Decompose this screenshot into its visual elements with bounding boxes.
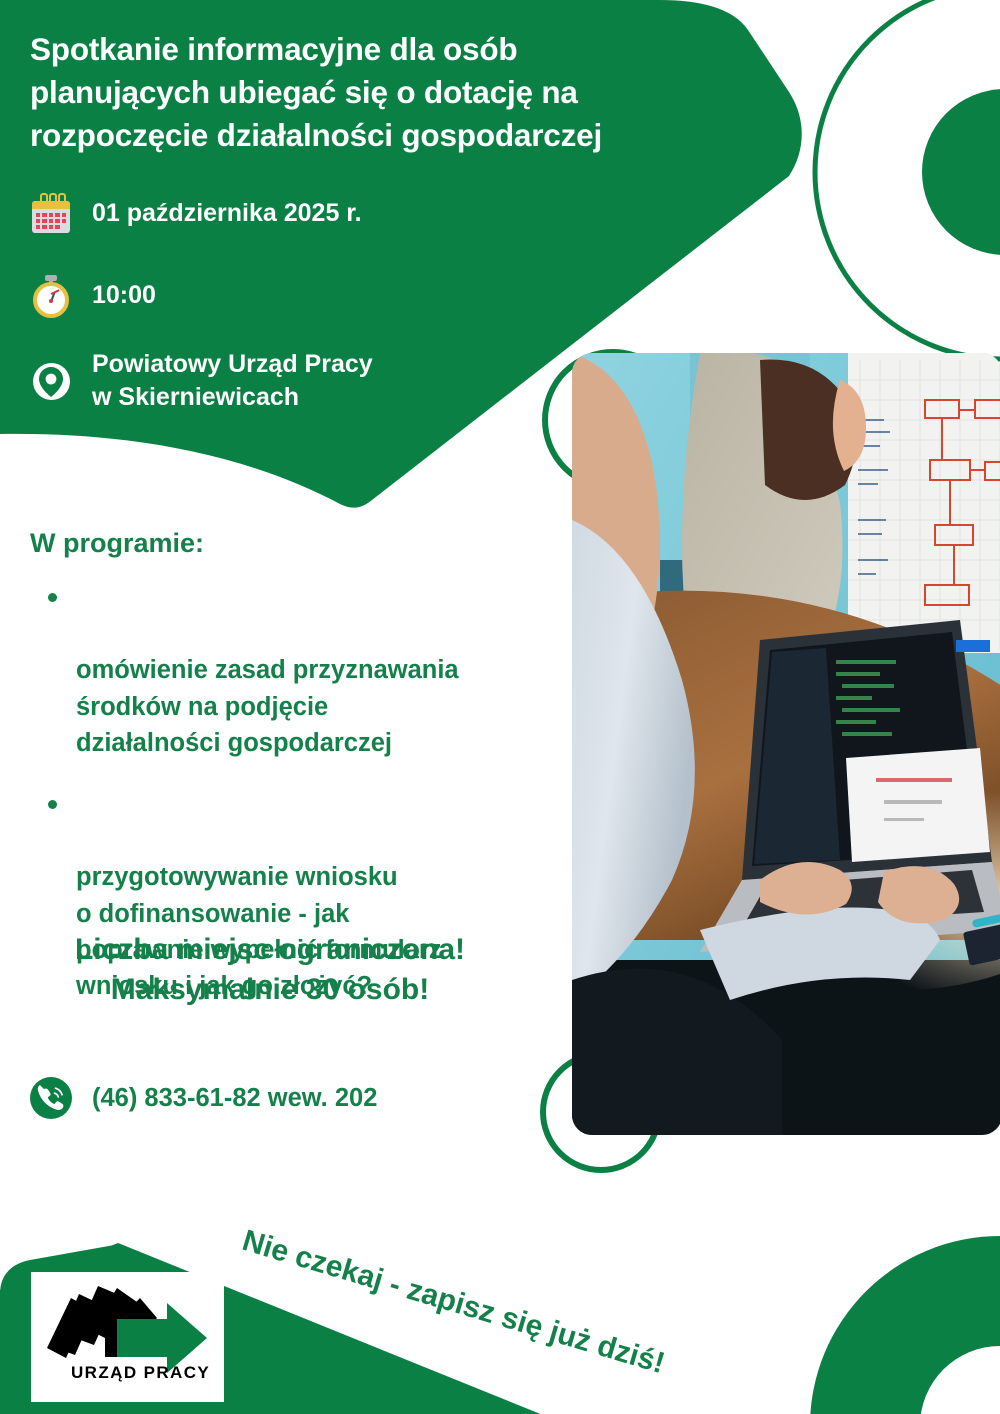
detail-location-text: Powiatowy Urząd Pracy w Skierniewicach (92, 348, 373, 413)
stopwatch-icon (28, 272, 74, 318)
detail-row-location: Powiatowy Urząd Pracy w Skierniewicach (28, 348, 373, 413)
urzad-pracy-logo: URZĄD PRACY (31, 1272, 224, 1402)
location-pin-icon (28, 358, 74, 404)
decor-circle-filled-top (922, 89, 1000, 255)
detail-date-text: 01 października 2025 r. (92, 197, 362, 230)
poster-root: Spotkanie informacyjne dla osób planując… (0, 0, 1000, 1414)
bullet-dot (48, 593, 57, 602)
logo-text: URZĄD PRACY (71, 1363, 210, 1382)
detail-time-text: 10:00 (92, 279, 156, 312)
limited-seats-notice: Liczba miejsc ograniczona! Maksymalnie 3… (0, 930, 540, 1010)
list-item: omówienie zasad przyznawania środków na … (44, 580, 544, 761)
detail-row-date: 01 października 2025 r. (28, 190, 362, 236)
bullet-dot (48, 800, 57, 809)
contact-row[interactable]: (46) 833-61-82 wew. 202 (28, 1075, 377, 1121)
page-title: Spotkanie informacyjne dla osób planując… (30, 28, 670, 156)
meeting-photo (532, 351, 1000, 1135)
calendar-icon (28, 190, 74, 236)
phone-number[interactable]: (46) 833-61-82 wew. 202 (92, 1084, 377, 1113)
phone-icon (28, 1075, 74, 1121)
detail-row-time: 10:00 (28, 272, 156, 318)
program-heading: W programie: (30, 528, 204, 559)
list-item-text: omówienie zasad przyznawania środków na … (76, 656, 459, 756)
